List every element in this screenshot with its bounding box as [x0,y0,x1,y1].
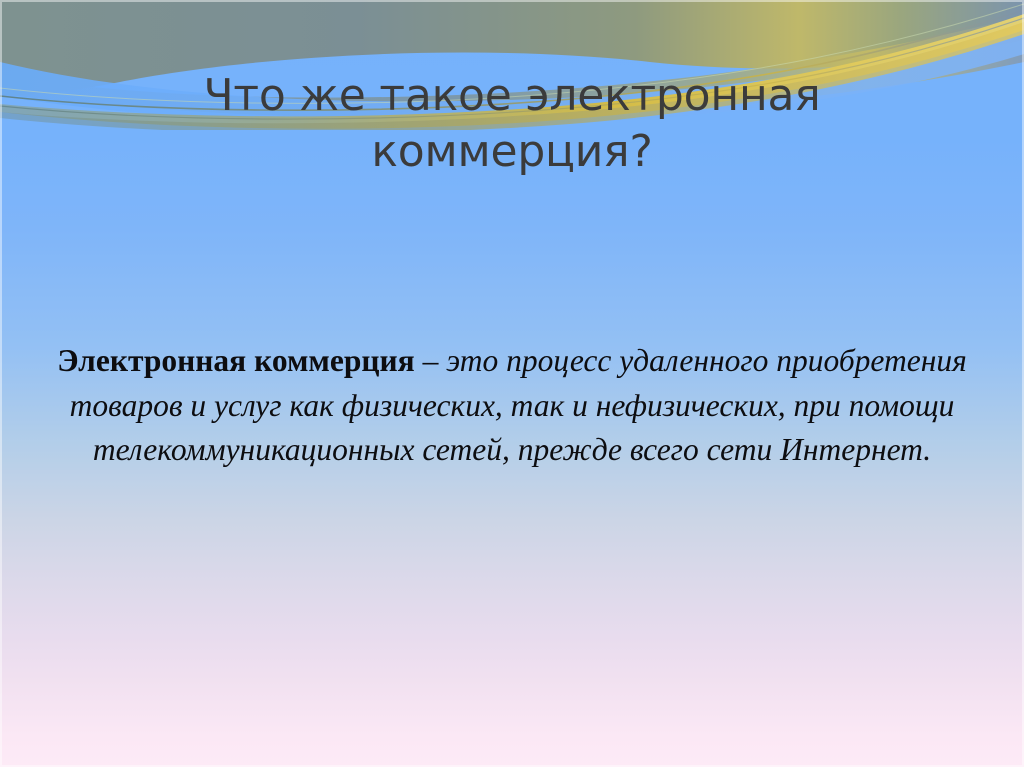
definition-term: Электронная коммерция [57,343,414,378]
page-title: Что же такое электронная коммерция? [72,68,952,181]
slide-title-block: Что же такое электронная коммерция? [72,68,952,181]
slide-body-block: Электронная коммерция – это процесс удал… [48,339,976,473]
definition-paragraph: Электронная коммерция – это процесс удал… [48,339,976,473]
presentation-slide: Что же такое электронная коммерция? Элек… [0,0,1024,767]
